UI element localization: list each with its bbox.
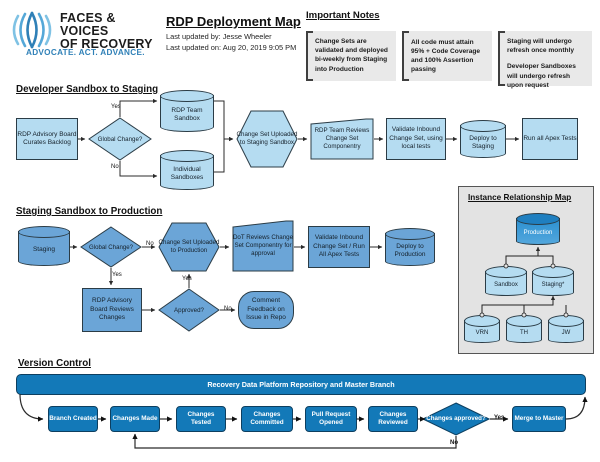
section-1-heading: Developer Sandbox to Staging [16,84,158,95]
vc-step-pull-request-opened[interactable]: Pull Request Opened [305,406,357,432]
node-label: Global Change? [88,117,152,161]
note-3-line-1: Staging will undergo refresh once monthl… [507,37,587,55]
updated-by: Last updated by: Jesse Wheeler [166,32,316,42]
irm-heading: Instance Relationship Map [468,193,571,202]
vc-step-branch-created[interactable]: Branch Created [48,406,98,432]
brand-tagline: ADVOCATE. ACT. ADVANCE. [26,48,145,57]
node-run-apex-tests[interactable]: Run all Apex Tests [522,118,578,160]
node-irm-staging[interactable]: Staging* [532,266,574,296]
edge-label-yes-3: Yes [182,276,192,282]
node-global-change-decision-2[interactable]: Global Change? [80,226,142,268]
brand-logo: FACES & VOICES OF RECOVERY ADVOCATE. ACT… [8,10,158,58]
edge-label-yes-1: Yes [111,104,121,110]
node-comment-feedback[interactable]: Comment Feedback on Issue in Repo [238,291,294,329]
node-advisory-board-review[interactable]: RDP Advisory Board Reviews Changes [82,288,142,332]
node-irm-sandbox[interactable]: Sandbox [485,266,527,296]
node-irm-dev-3[interactable]: JW [548,315,584,343]
vc-step-changes-made[interactable]: Changes Made [110,406,160,432]
vc-step-merge-to-master[interactable]: Merge to Master [512,406,566,432]
node-rdp-team-review[interactable]: RDP Team Reviews Change Set Componentry [310,118,374,160]
node-staging[interactable]: Staging [18,226,70,266]
node-irm-dev-1[interactable]: VRN [464,315,500,343]
edge-label-no-1: No [111,164,119,170]
edge-label-no-2: No [146,241,154,247]
node-irm-dev-2[interactable]: TH [506,315,542,343]
node-irm-production[interactable]: Production [516,213,560,245]
vc-step-changes-committed[interactable]: Changes Committed [241,406,293,432]
note-3-line-2: Developer Sandboxes will undergo refresh… [507,62,587,90]
vc-step-changes-reviewed[interactable]: Changes Reviewed [368,406,418,432]
node-dot-review[interactable]: DoT Reviews Change Set Componentry for a… [232,220,294,272]
vc-repo-banner: Recovery Data Platform Repository and Ma… [16,374,586,395]
page-title: RDP Deployment Map [166,14,316,29]
node-change-set-uploaded-staging[interactable]: Change Set Uploaded to Staging Sandbox [236,110,298,168]
note-3: Staging will undergo refresh once monthl… [498,31,592,86]
section-2-heading: Staging Sandbox to Production [16,206,162,217]
edge-label-no-3: No [224,306,232,312]
vc-step-changes-tested[interactable]: Changes Tested [176,406,226,432]
version-control-heading: Version Control [18,358,91,369]
node-rdp-team-sandbox[interactable]: RDP Team Sandbox [160,90,214,132]
edge-label-yes-2: Yes [112,272,122,278]
node-approved-decision[interactable]: Approved? [158,288,220,332]
brand-wordmark: FACES & VOICES OF RECOVERY [60,12,158,51]
vc-edge-label-yes: Yes [494,415,504,421]
vc-edge-label-no: No [450,440,458,446]
node-change-set-uploaded-production[interactable]: Change Set Uploaded to Production [158,222,220,272]
node-individual-sandboxes[interactable]: Individual Sandboxes [160,150,214,190]
updated-on: Last updated on: Aug 20, 2019 9:05 PM [166,43,316,53]
node-rdp-advisory-backlog[interactable]: RDP Advisory Board Curates Backlog [16,118,78,160]
node-global-change-decision-1[interactable]: Global Change? [88,117,152,161]
node-validate-inbound-1[interactable]: Validate Inbound Change Set, using local… [386,118,446,160]
node-validate-inbound-2[interactable]: Validate Inbound Change Set / Run All Ap… [308,226,370,268]
brand-line-1: FACES & VOICES [60,12,158,38]
vc-decision-changes-approved[interactable]: Changes approved? [422,402,490,436]
globe-arcs-logo-icon [8,10,56,50]
note-2: All code must attain 95% + Code Coverage… [402,31,492,81]
node-deploy-to-production[interactable]: Deploy to Production [385,228,435,266]
note-1: Change Sets are validated and deployed b… [306,31,396,81]
node-deploy-to-staging[interactable]: Deploy to Staging [460,120,506,158]
title-block: RDP Deployment Map Last updated by: Jess… [166,14,316,52]
notes-heading: Important Notes [306,10,380,21]
